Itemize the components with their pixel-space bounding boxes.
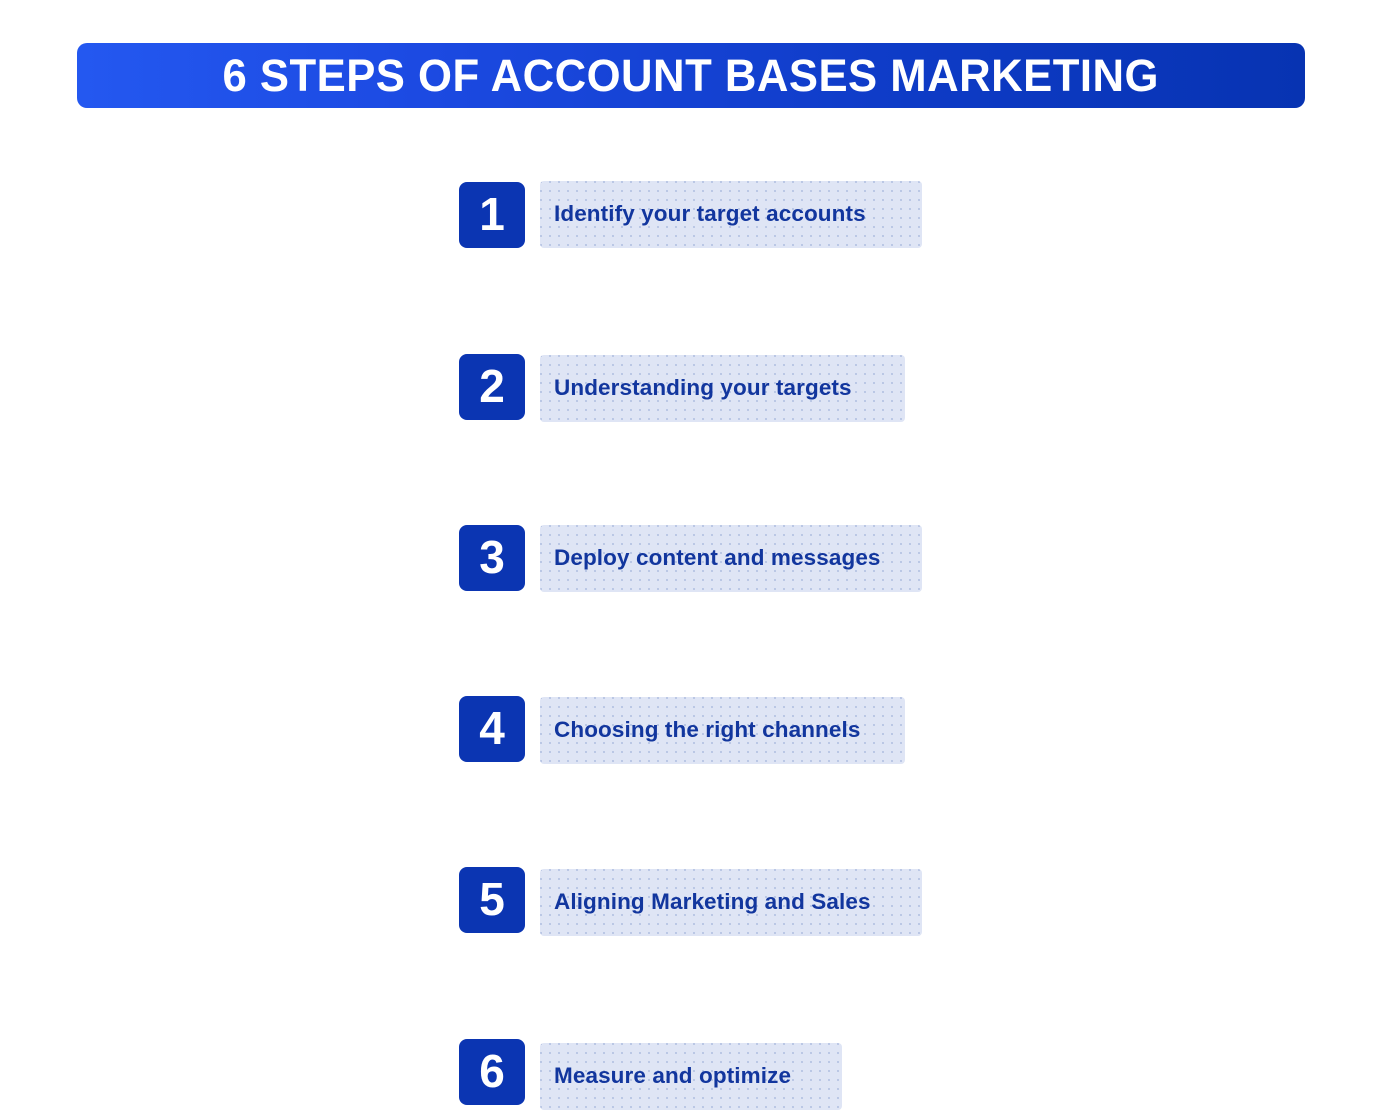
step-number: 1 [479,191,505,237]
header-banner: 6 STEPS OF ACCOUNT BASES MARKETING [77,43,1305,108]
step-number: 5 [479,876,505,922]
step-label: Measure and optimize [554,1065,791,1088]
step-label-box: Aligning Marketing and Sales [540,869,922,936]
step-number-badge: 5 [459,867,525,933]
step-label-box: Choosing the right channels [540,697,905,764]
step-label: Identify your target accounts [554,203,866,226]
step-row: 5 Aligning Marketing and Sales [459,525,979,611]
page-title: 6 STEPS OF ACCOUNT BASES MARKETING [223,53,1159,98]
step-number-badge: 4 [459,696,525,762]
step-row: 6 Measure and optimize [459,611,979,697]
step-label: Aligning Marketing and Sales [554,891,871,914]
step-number-badge: 1 [459,182,525,248]
step-number: 6 [479,1048,505,1094]
step-row: 4 Choosing the right channels [459,439,979,525]
step-number: 4 [479,705,505,751]
step-number-badge: 6 [459,1039,525,1105]
step-row: 1 Identify your target accounts [459,181,979,267]
step-label-box: Identify your target accounts [540,181,922,248]
step-label-box: Measure and optimize [540,1043,842,1110]
step-label: Choosing the right channels [554,719,860,742]
step-row: 3 Deploy content and messages [459,353,979,439]
step-row: 2 Understanding your targets [459,267,979,353]
steps-list: 1 Identify your target accounts 2 Unders… [459,181,979,697]
